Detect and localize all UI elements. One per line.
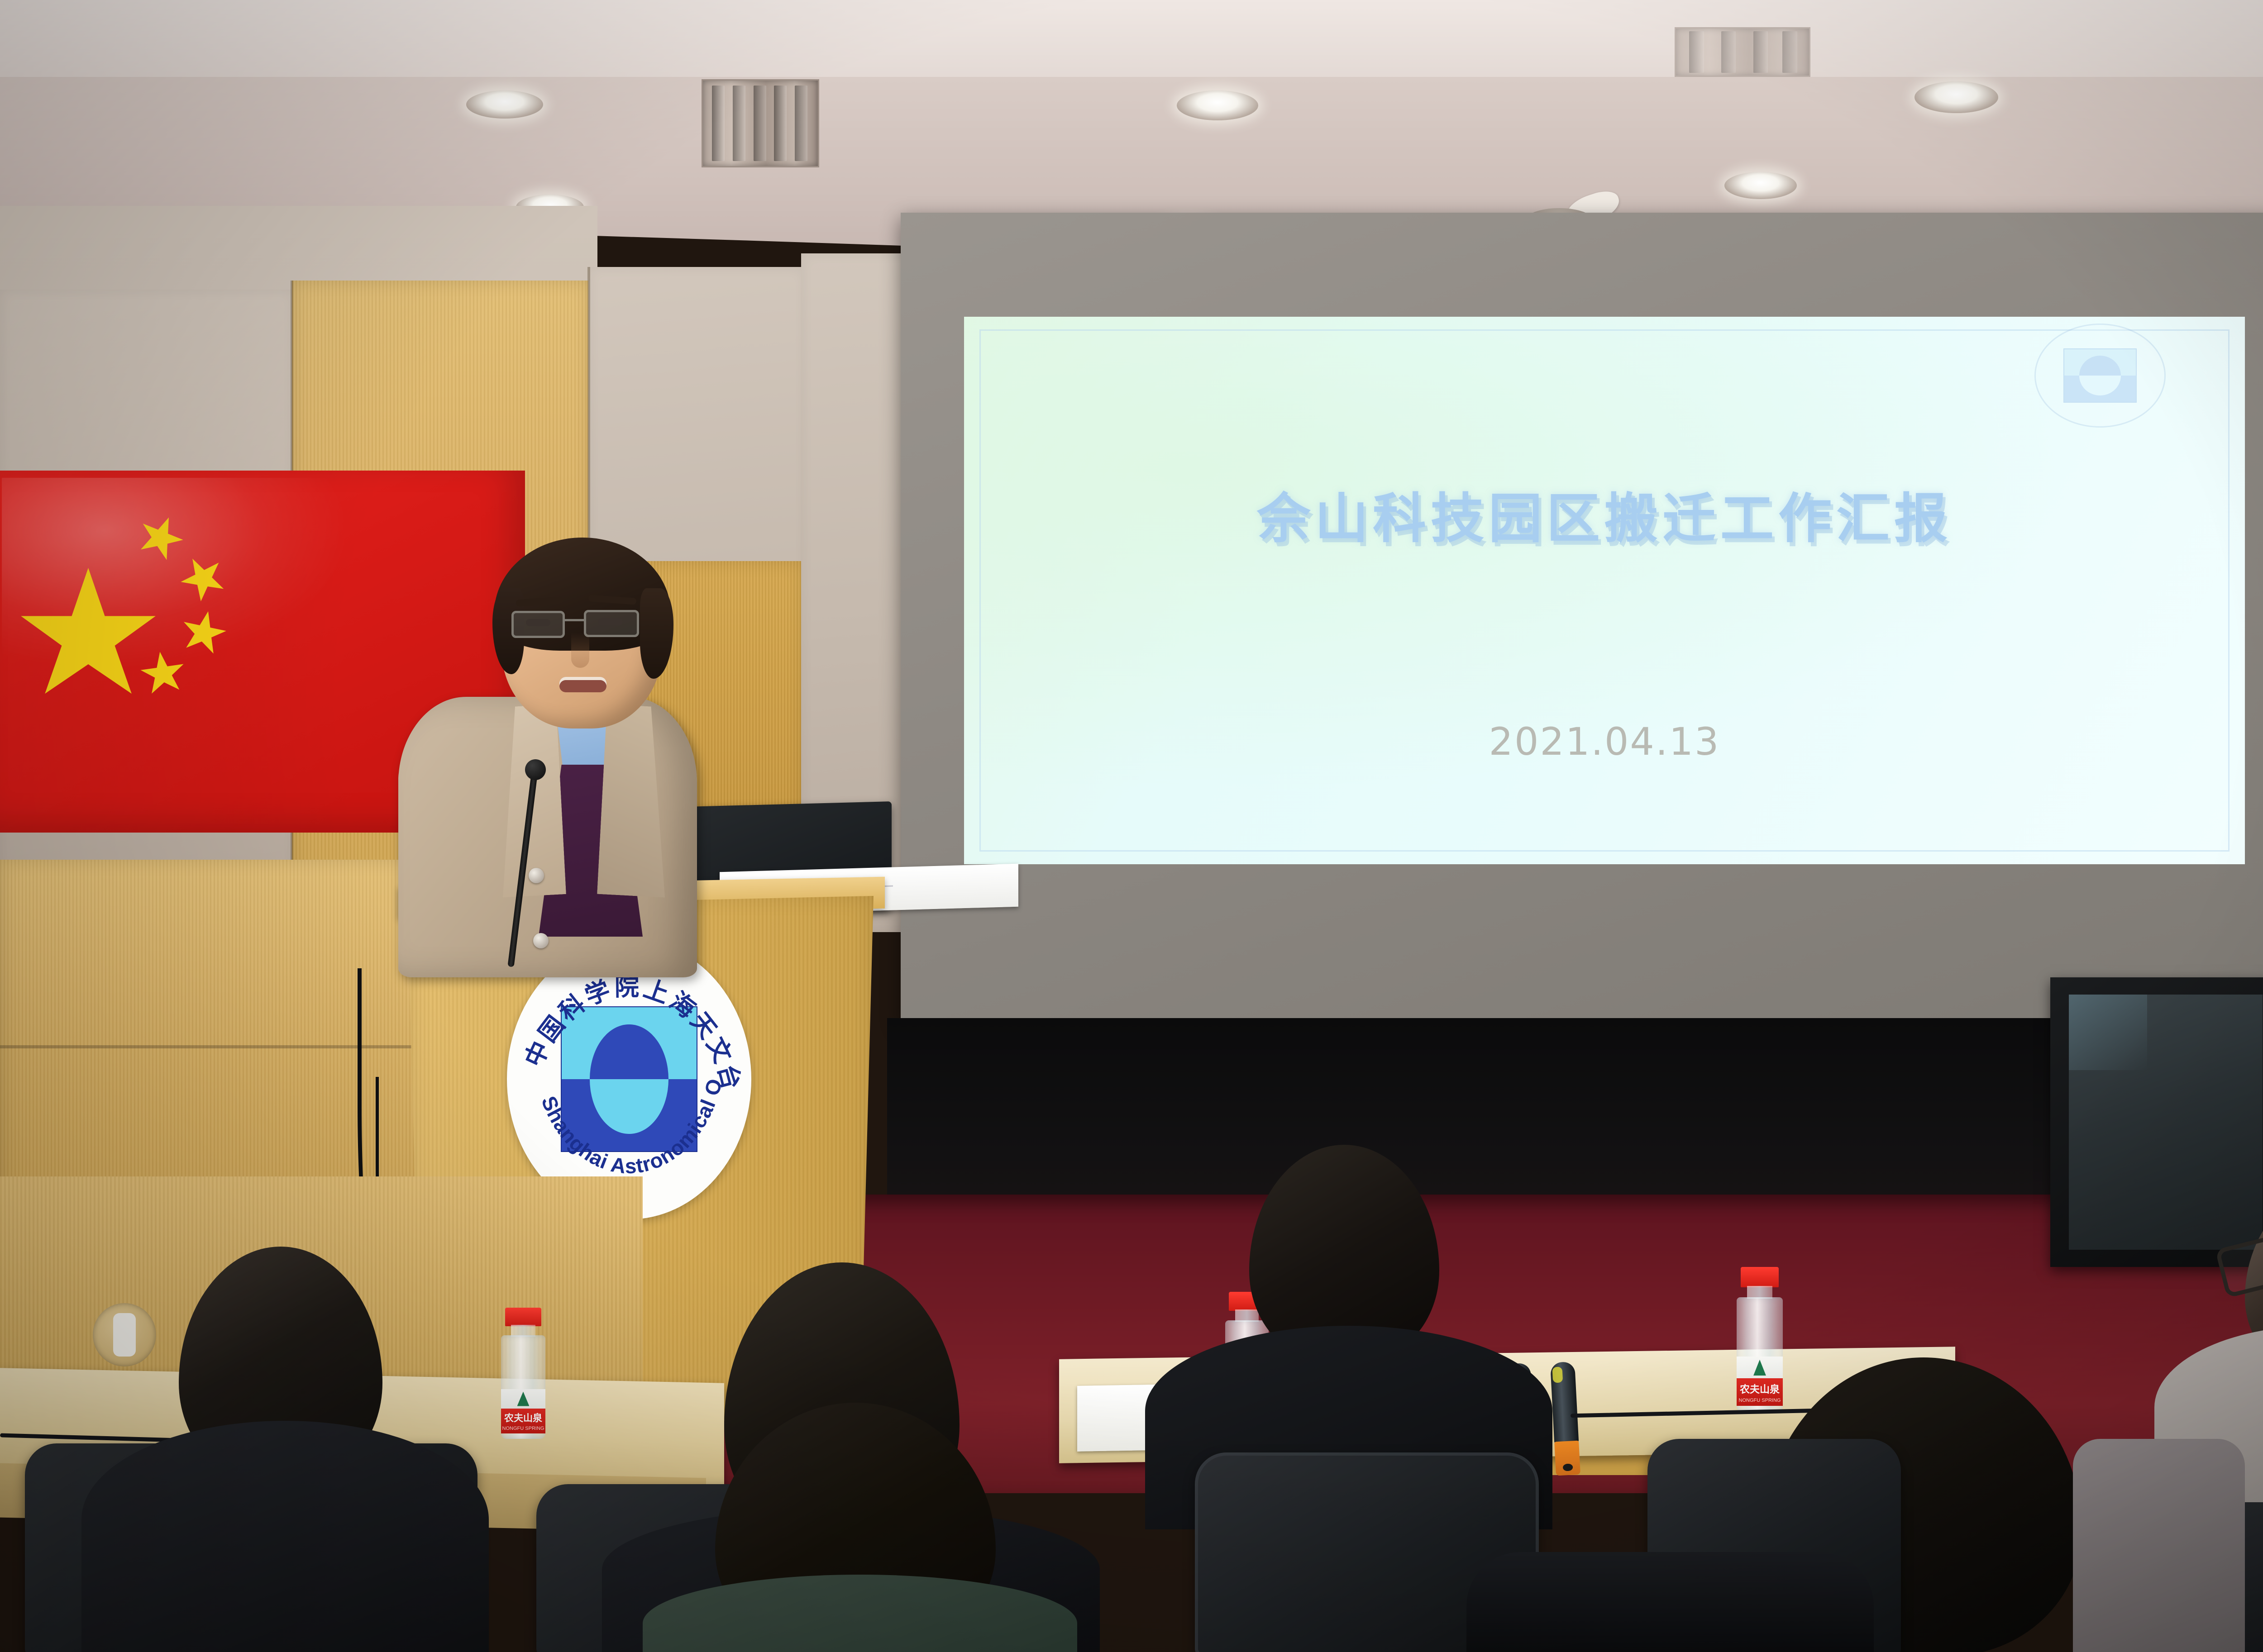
foreground-chair [1466, 1552, 1874, 1652]
microphone-connector [1563, 1463, 1573, 1471]
flag-star-small [172, 547, 235, 610]
bottle-neck [1747, 1286, 1772, 1299]
ceiling-downlight [1724, 172, 1797, 199]
presenter-nose [571, 633, 589, 668]
glasses-bridge [564, 619, 586, 621]
floor-power-socket [93, 1303, 156, 1366]
ceiling-downlight [1177, 90, 1258, 120]
emblem-box [2063, 348, 2137, 403]
conference-hall-photo: 佘山科技园区搬迁工作汇报 2021.04.13 中国科学院上海天文台 Shang… [0, 0, 2263, 1652]
bottle-neck [511, 1325, 535, 1337]
microphone-base [1554, 1441, 1580, 1476]
bottle-brand-cn: 农夫山泉 [498, 1411, 549, 1424]
emblem-circle [2079, 356, 2121, 395]
audience-shoulders [81, 1421, 489, 1652]
bottle-cap [1741, 1267, 1779, 1287]
bottle-brand-cn: 农夫山泉 [1733, 1381, 1786, 1396]
slide-date: 2021.04.13 [964, 719, 2245, 764]
water-bottle-table: 农夫山泉 NONGFU SPRING [1733, 1267, 1786, 1412]
coat-button [533, 933, 549, 948]
bottle-neck [1235, 1309, 1259, 1322]
water-bottle-table: 农夫山泉 NONGFU SPRING [498, 1308, 549, 1439]
ceiling-air-vent [702, 79, 819, 167]
glasses-lens-right [584, 610, 639, 637]
bottle-brand-en: NONGFU SPRING [498, 1426, 549, 1431]
svg-text:中国科学院上海天文台: 中国科学院上海天文台 [519, 972, 747, 1095]
slide-title: 佘山科技园区搬迁工作汇报 [964, 475, 2245, 552]
ceiling-air-vent [1675, 27, 1810, 77]
gooseneck-microphone-head [525, 759, 546, 780]
presenter-mouth [559, 677, 606, 692]
microphone-stripe [1552, 1366, 1563, 1383]
audience-chair-grey [2073, 1439, 2245, 1652]
ceiling-upper-band [0, 0, 2263, 86]
glasses-lens-left [511, 611, 565, 638]
flag-star-small [177, 607, 230, 659]
socket-hole [118, 1319, 128, 1341]
coat-button [529, 868, 544, 883]
sao-emblem-on-slide: 中国科学院上海天文台 Shanghai Astronomical Observa… [2034, 324, 2166, 428]
bottle-cap [505, 1308, 542, 1326]
ceiling-downlight [1914, 81, 1998, 113]
flag-star-large [18, 568, 158, 704]
bottle-brand-en: NONGFU SPRING [1733, 1398, 1786, 1403]
flag-star-small [132, 509, 190, 566]
ceiling-downlight [466, 90, 543, 119]
flag-star-small [138, 649, 188, 698]
loudspeaker-reflection [2069, 995, 2147, 1070]
stage-loudspeaker [2050, 977, 2263, 1267]
